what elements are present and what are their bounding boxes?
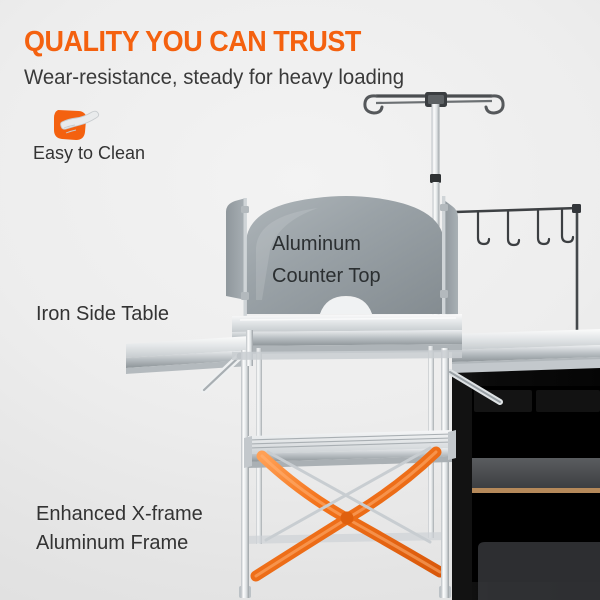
main-counter-top — [232, 314, 462, 354]
callout-counter-top-line2: Counter Top — [272, 260, 381, 292]
callout-counter-top: Aluminum Counter Top — [272, 228, 381, 292]
callout-x-frame: Enhanced X-frame Aluminum Frame — [36, 500, 203, 558]
orange-x-frame-brace — [256, 448, 440, 576]
iron-side-table — [126, 336, 250, 390]
headline: QUALITY YOU CAN TRUST — [24, 26, 361, 59]
callout-side-table: Iron Side Table — [36, 303, 169, 326]
storage-cabinet — [450, 359, 600, 600]
callout-x-frame-line1: Enhanced X-frame — [36, 500, 203, 529]
hook-rail — [455, 204, 581, 330]
callout-counter-top-line1: Aluminum — [272, 228, 381, 260]
sponge-hand-icon — [40, 104, 104, 144]
product-feature-banner: QUALITY YOU CAN TRUST Wear-resistance, s… — [0, 0, 600, 600]
easy-to-clean-label: Easy to Clean — [33, 143, 145, 164]
callout-x-frame-line2: Aluminum Frame — [36, 529, 203, 558]
subheadline: Wear-resistance, steady for heavy loadin… — [24, 66, 404, 90]
